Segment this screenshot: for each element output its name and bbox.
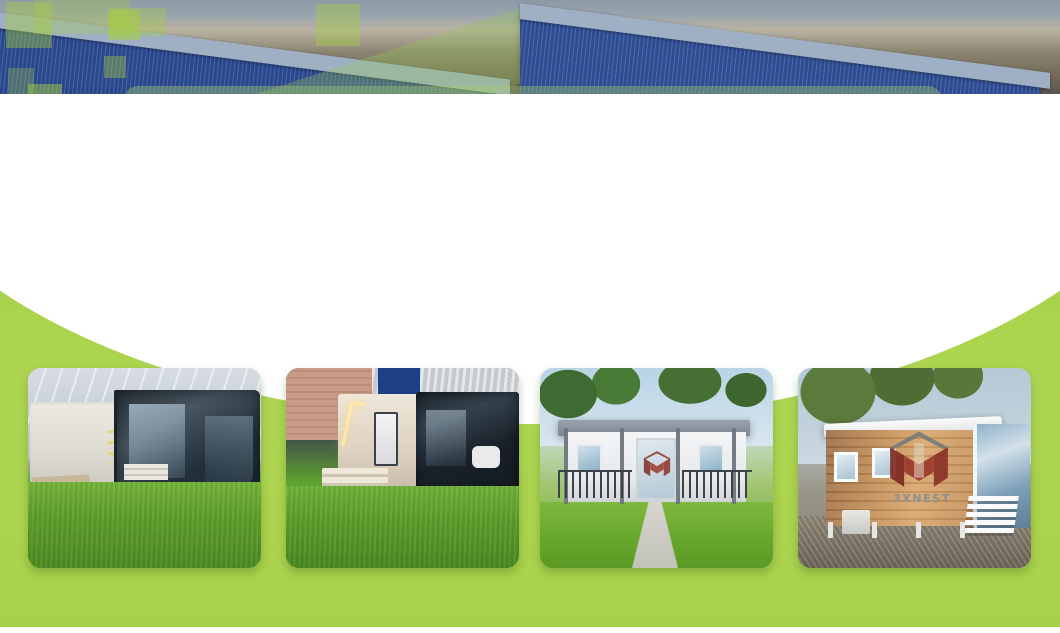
promotional-banner: ONE-STOP SERVICE 3XNEST CUSTOMIZED SUPPO…	[0, 0, 1060, 633]
white-villa-with-porch-image	[540, 368, 773, 568]
green-deco-square-10	[316, 4, 360, 46]
bottom-white-strip	[0, 627, 1060, 633]
list-item[interactable]	[286, 368, 519, 568]
green-deco-square-11	[104, 56, 126, 78]
card-brand-label: 3XNEST	[882, 492, 962, 505]
list-item[interactable]: 3XNEST	[798, 368, 1031, 568]
list-item[interactable]	[28, 368, 261, 568]
capsule-house-showroom-image	[28, 368, 261, 568]
night-lit-capsule-house-image	[286, 368, 519, 568]
cube-hexagon-logo-icon	[886, 426, 952, 494]
green-deco-square-6	[110, 8, 166, 36]
wood-clad-expandable-house-image: 3XNEST	[798, 368, 1031, 568]
list-item[interactable]	[540, 368, 773, 568]
